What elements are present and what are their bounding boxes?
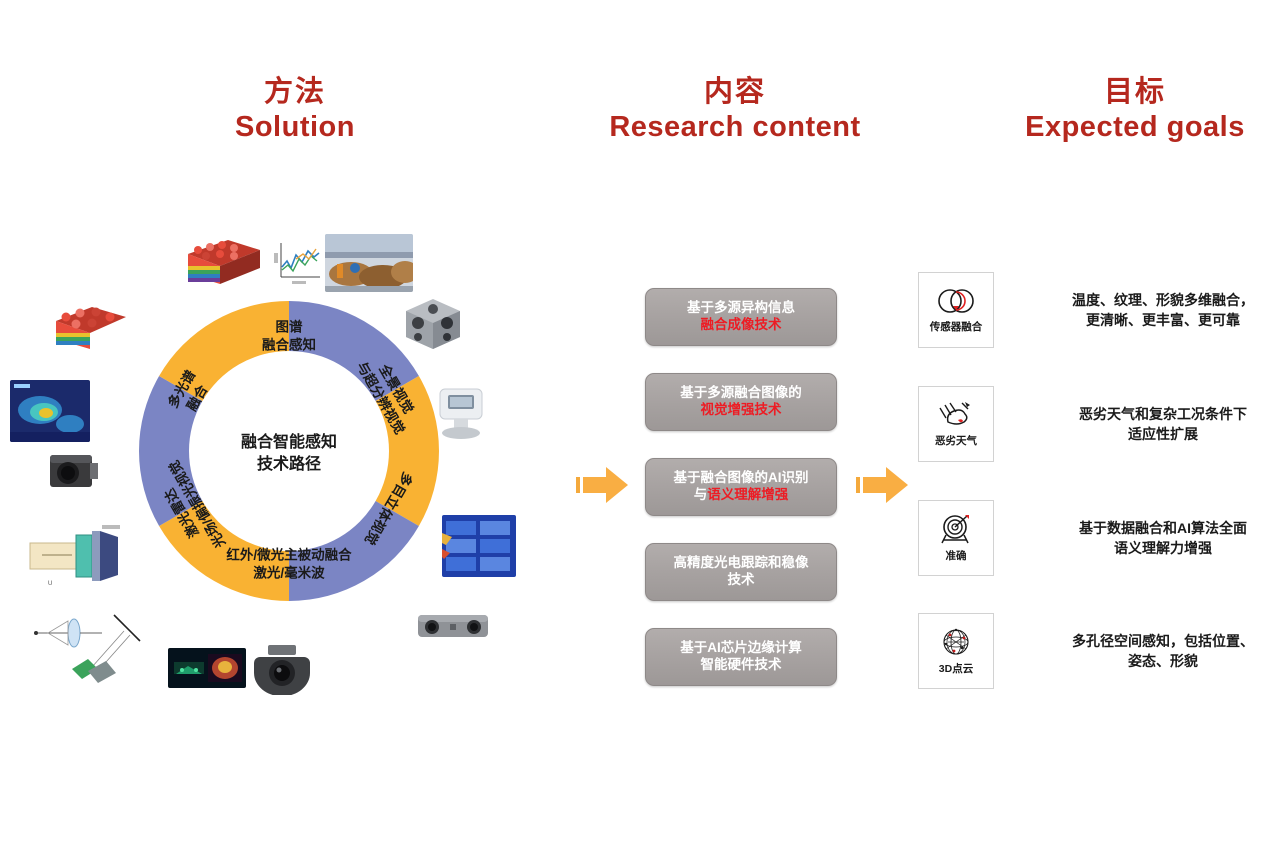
research-box-2-line2: 视觉增强技术 — [701, 402, 782, 419]
night-vision-imagery-thumbnail — [168, 648, 246, 688]
column-header-expected-goals: 目标 Expected goals — [1000, 76, 1268, 145]
research-box-4-line1: 高精度光电跟踪和稳像 — [674, 555, 809, 572]
optical-component-diagram-thumbnail: U — [28, 525, 126, 589]
research-box-4-line2: 技术 — [728, 572, 755, 589]
wheel-segment-3-line1: 激光/毫米波 — [253, 565, 325, 581]
solution-wheel-area: U — [0, 205, 540, 725]
wheel-segment-0-line2: 融合感知 — [262, 337, 316, 353]
goal-text-point-cloud-line1: 多孔径空间感知，包括位置、 — [1032, 631, 1268, 651]
goal-text-accuracy: 基于数据融合和AI算法全面 语义理解力增强 — [1032, 518, 1268, 559]
wheel-segment-0-line1: 图谱 — [276, 319, 303, 335]
goal-text-accuracy-line2: 语义理解力增强 — [1032, 538, 1268, 558]
research-box-3-line2-red: 语义理解增强 — [707, 487, 788, 502]
camera-module-photo-thumbnail — [44, 445, 104, 497]
goal-icon-box-severe-weather[interactable]: 恶劣天气 — [918, 386, 994, 462]
thermal-image-thumbnail — [10, 380, 90, 442]
goal-icon-box-accuracy[interactable]: 准确 — [918, 500, 994, 576]
goal-icon-box-sensor-fusion[interactable]: 传感器融合 — [918, 272, 994, 348]
hyperspectral-cube-thumbnail — [182, 234, 264, 292]
goal-caption-sensor-fusion: 传感器融合 — [930, 319, 983, 334]
target-accuracy-icon — [934, 513, 978, 545]
column-header-solution: 方法 Solution — [160, 76, 430, 145]
goal-text-sensor-fusion: 温度、纹理、形貌多维融合， 更清晰、更丰富、更可靠 — [1032, 290, 1268, 331]
goal-caption-severe-weather: 恶劣天气 — [935, 433, 977, 448]
multispectral-sample-thumbnail — [52, 299, 130, 357]
goal-icon-box-point-cloud[interactable]: 3D点云 — [918, 613, 994, 689]
goal-text-severe-weather-line1: 恶劣天气和复杂工况条件下 — [1032, 404, 1268, 424]
research-box-5[interactable]: 基于AI芯片边缘计算 智能硬件技术 — [645, 628, 837, 686]
header-content-en: Research content — [600, 111, 870, 144]
goal-text-severe-weather: 恶劣天气和复杂工况条件下 适应性扩展 — [1032, 404, 1268, 445]
spectral-curve-plot-thumbnail — [272, 237, 324, 289]
research-box-5-line2: 智能硬件技术 — [701, 657, 782, 674]
research-box-4[interactable]: 高精度光电跟踪和稳像 技术 — [645, 543, 837, 601]
goal-row-accuracy: 准确 基于数据融合和AI算法全面 语义理解力增强 — [918, 500, 1268, 576]
arrow-solution-to-content — [576, 462, 632, 508]
header-solution-en: Solution — [160, 111, 430, 144]
thermal-brick-wall-thumbnail — [442, 515, 516, 577]
venn-fusion-icon — [934, 286, 978, 316]
svg-text:U: U — [48, 581, 52, 587]
goal-caption-accuracy: 准确 — [946, 548, 967, 563]
severe-weather-icon — [934, 400, 978, 430]
arrow-content-to-goals — [856, 462, 912, 508]
wheel-center-line2: 技术路径 — [257, 454, 321, 473]
header-goals-en: Expected goals — [1000, 111, 1268, 144]
goal-text-point-cloud-line2: 姿态、形貌 — [1032, 651, 1268, 671]
optical-path-schematic-thumbnail — [28, 605, 156, 685]
research-box-1[interactable]: 基于多源异构信息 融合成像技术 — [645, 288, 837, 346]
wheel-center-line1: 融合智能感知 — [241, 432, 337, 451]
column-header-research-content: 内容 Research content — [600, 76, 870, 145]
header-goals-cn: 目标 — [1000, 76, 1268, 109]
research-box-3-line1: 基于融合图像的AI识别 — [674, 470, 809, 487]
research-box-1-line1: 基于多源异构信息 — [687, 300, 795, 317]
technology-roadmap-donut: 图谱 融合感知 全景视觉 与超分辨视觉 多目立体视觉 激光/毫米波 红外/微光主… — [133, 295, 445, 607]
header-content-cn: 内容 — [600, 76, 870, 109]
wheel-segment-3-line2: 红外/微光主被动融合 — [226, 547, 352, 563]
donut-svg: 图谱 融合感知 全景视觉 与超分辨视觉 多目立体视觉 激光/毫米波 红外/微光主… — [133, 295, 445, 607]
stereo-camera-bar-photo-thumbnail — [414, 603, 492, 649]
goal-text-sensor-fusion-line2: 更清晰、更丰富、更可靠 — [1032, 310, 1268, 330]
goal-row-severe-weather: 恶劣天气 恶劣天气和复杂工况条件下 适应性扩展 — [918, 386, 1268, 462]
goal-caption-point-cloud: 3D点云 — [939, 661, 973, 676]
research-box-3[interactable]: 基于融合图像的AI识别 与语义理解增强 — [645, 458, 837, 516]
goal-text-severe-weather-line2: 适应性扩展 — [1032, 424, 1268, 444]
goal-text-point-cloud: 多孔径空间感知，包括位置、 姿态、形貌 — [1032, 631, 1268, 672]
header-solution-cn: 方法 — [160, 76, 430, 109]
research-box-2-line1: 基于多源融合图像的 — [680, 385, 802, 402]
research-box-2[interactable]: 基于多源融合图像的 视觉增强技术 — [645, 373, 837, 431]
research-box-3-line2: 与语义理解增强 — [694, 487, 789, 504]
research-box-5-line1: 基于AI芯片边缘计算 — [680, 640, 802, 657]
point-cloud-sphere-icon — [934, 626, 978, 658]
gimbal-camera-photo-thumbnail — [252, 643, 314, 695]
goal-text-sensor-fusion-line1: 温度、纹理、形貌多维融合， — [1032, 290, 1268, 310]
research-box-1-line2: 融合成像技术 — [701, 317, 782, 334]
goal-row-sensor-fusion: 传感器融合 温度、纹理、形貌多维融合， 更清晰、更丰富、更可靠 — [918, 272, 1268, 348]
industrial-pipeline-photo-thumbnail — [325, 234, 413, 292]
goal-row-point-cloud: 3D点云 多孔径空间感知，包括位置、 姿态、形貌 — [918, 613, 1268, 689]
research-box-3-line2-white: 与 — [694, 487, 708, 502]
goal-text-accuracy-line1: 基于数据融合和AI算法全面 — [1032, 518, 1268, 538]
